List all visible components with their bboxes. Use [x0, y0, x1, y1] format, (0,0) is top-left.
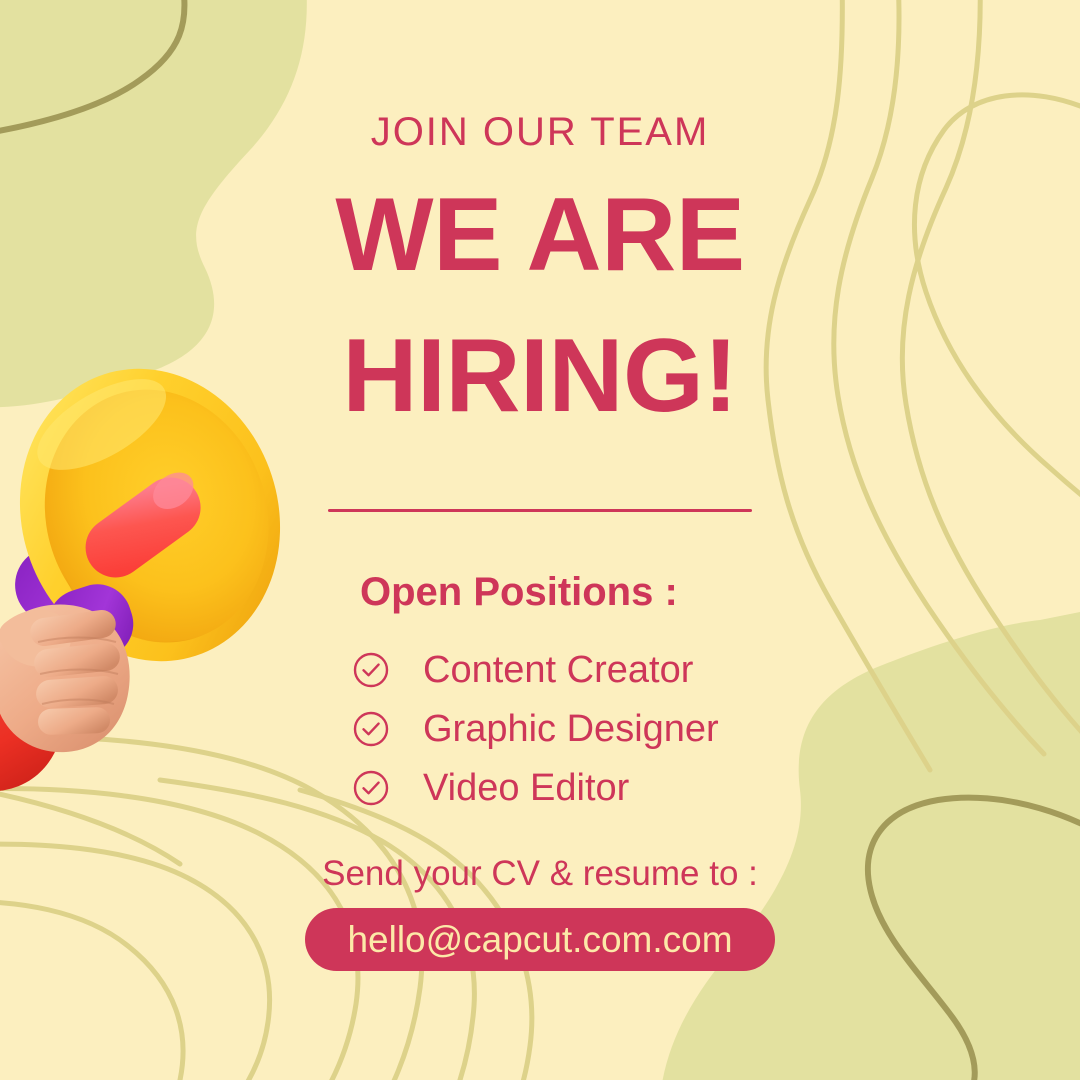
position-label: Content Creator [423, 651, 693, 689]
hiring-poster: JOIN OUR TEAM WE ARE HIRING! Open Positi… [0, 0, 1080, 1080]
check-circle-icon [352, 651, 390, 689]
divider-rule [328, 509, 752, 512]
list-item: Content Creator [352, 640, 912, 699]
headline-line-2: HIRING! [240, 322, 840, 430]
check-circle-icon [352, 769, 390, 807]
list-item: Graphic Designer [352, 699, 912, 758]
cta-instruction-text: Send your CV & resume to : [240, 856, 840, 891]
check-circle-icon [352, 710, 390, 748]
headline-line-1: WE ARE [240, 181, 840, 289]
open-positions-list: Content Creator Graphic Designer Video E… [352, 640, 912, 817]
list-item: Video Editor [352, 758, 912, 817]
open-positions-title: Open Positions : [360, 570, 678, 614]
poster-content: JOIN OUR TEAM WE ARE HIRING! Open Positi… [0, 0, 1080, 1080]
position-label: Graphic Designer [423, 710, 719, 748]
eyebrow-text: JOIN OUR TEAM [240, 112, 840, 152]
email-button[interactable]: hello@capcut.com.com [305, 908, 775, 971]
email-address: hello@capcut.com.com [347, 921, 732, 958]
position-label: Video Editor [423, 769, 629, 807]
